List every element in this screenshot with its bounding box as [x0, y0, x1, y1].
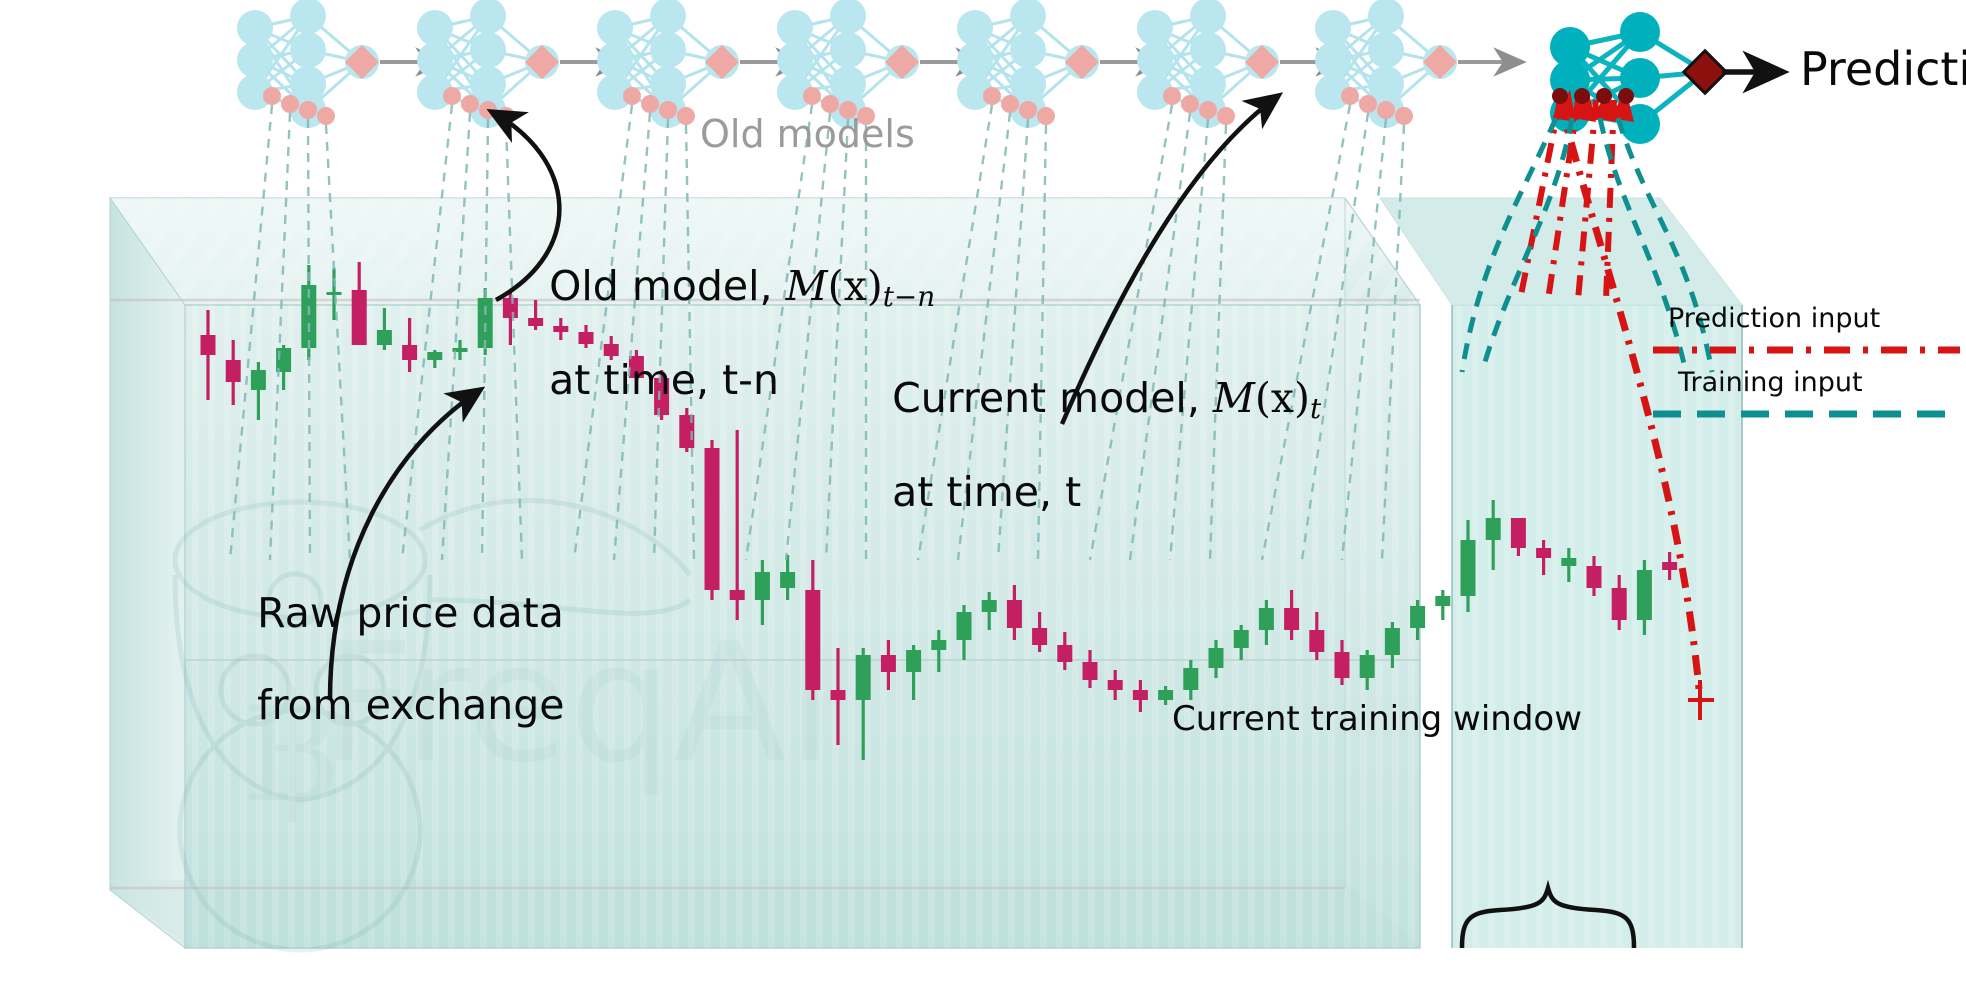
raw-price-callout-line2: from exchange — [257, 681, 564, 729]
network-node — [470, 0, 506, 34]
candle-body — [881, 655, 896, 672]
candle-body — [1158, 690, 1173, 700]
training-input-node — [263, 87, 281, 105]
network-node — [1368, 32, 1404, 68]
candle-body — [1057, 645, 1072, 662]
old-model-network — [237, 0, 444, 128]
old-models-label: Old models — [700, 113, 915, 156]
network-node — [1190, 32, 1226, 68]
candle-body — [957, 612, 972, 640]
network-node — [650, 32, 686, 68]
network-node — [1137, 10, 1173, 46]
candle-body — [805, 590, 820, 690]
training-input-node — [299, 101, 317, 119]
training-input-node — [1181, 95, 1199, 113]
candle-body — [1662, 562, 1677, 570]
candle-body — [377, 330, 392, 345]
candle-body — [251, 370, 266, 390]
training-input-node — [1037, 107, 1055, 125]
network-node — [597, 10, 633, 46]
candle-body — [755, 572, 770, 600]
prediction-label: Prediction — [1800, 44, 1966, 96]
candle-body — [856, 655, 871, 700]
training-input-node — [1001, 95, 1019, 113]
raw-price-callout-line1: Raw price data — [257, 589, 564, 637]
network-node — [470, 32, 506, 68]
training-input-node — [641, 95, 659, 113]
network-node — [417, 42, 453, 78]
candle-body — [705, 448, 720, 590]
old-model-network — [597, 0, 804, 128]
candle-body — [1587, 566, 1602, 588]
raw-price-callout: Raw price data from exchange — [205, 545, 565, 775]
training-input-node — [317, 107, 335, 125]
network-node — [1315, 42, 1351, 78]
training-input-node — [659, 101, 677, 119]
candle-body — [1612, 588, 1627, 620]
network-node — [957, 10, 993, 46]
candle-body — [1183, 668, 1198, 690]
candle-body — [1234, 630, 1249, 648]
training-input-node — [677, 107, 695, 125]
legend-label-prediction-input: Prediction input — [1668, 304, 1880, 334]
candle-body — [1561, 558, 1576, 566]
network-node — [417, 10, 453, 46]
network-node — [1315, 10, 1351, 46]
candle-body — [402, 345, 417, 360]
training-input-node — [821, 95, 839, 113]
training-input-node — [1395, 107, 1413, 125]
current-model-network — [1550, 12, 1782, 144]
training-input-node — [1019, 101, 1037, 119]
network-node — [957, 42, 993, 78]
candle-body — [1108, 680, 1123, 690]
candle-body — [1360, 655, 1375, 678]
training-input-node — [803, 87, 821, 105]
candle-body — [327, 292, 342, 295]
network-node — [1368, 0, 1404, 34]
old-model-network — [1137, 0, 1344, 128]
candle-body — [831, 690, 846, 700]
current-model-callout-line1: Current model, M(x)t — [892, 374, 1321, 422]
candle-body — [1536, 548, 1551, 558]
candle-body — [730, 590, 745, 600]
training-input-node — [461, 95, 479, 113]
network-node — [237, 10, 273, 46]
current-model-callout: Current model, M(x)t at time, t — [840, 330, 1321, 562]
old-model-network — [777, 0, 984, 128]
candle-body — [1133, 690, 1148, 700]
training-input-node — [1341, 87, 1359, 105]
candle-body — [226, 360, 241, 382]
network-node — [1137, 42, 1173, 78]
training-input-node — [1217, 107, 1235, 125]
network-node — [650, 0, 686, 34]
old-model-callout-line2: at time, t-n — [549, 356, 779, 404]
network-node — [597, 42, 633, 78]
training-input-node — [983, 87, 1001, 105]
training-input-node — [479, 101, 497, 119]
current-model-callout-line2: at time, t — [892, 468, 1081, 516]
candle-body — [352, 290, 367, 345]
candle-body — [1435, 596, 1450, 606]
candle-body — [906, 650, 921, 672]
candle-body — [1209, 648, 1224, 668]
candle-body — [1335, 652, 1350, 678]
network-node — [777, 10, 813, 46]
network-node — [290, 0, 326, 34]
network-node — [830, 32, 866, 68]
network-node — [777, 42, 813, 78]
candle-body — [982, 600, 997, 612]
training-input-node — [1163, 87, 1181, 105]
candle-body — [1032, 628, 1047, 645]
candle-body — [1083, 662, 1098, 680]
network-node — [830, 0, 866, 34]
network-node — [1190, 0, 1226, 34]
network-node — [237, 42, 273, 78]
candle-body — [1007, 600, 1022, 628]
candle-body — [780, 572, 795, 588]
training-input-node — [1377, 101, 1395, 119]
network-node — [1010, 32, 1046, 68]
training-input-node — [281, 95, 299, 113]
old-model-callout-line1: Old model, M(x)t−n — [549, 262, 935, 310]
candle-body — [427, 352, 442, 360]
candle-body — [931, 640, 946, 650]
network-node — [1010, 0, 1046, 34]
candle-body — [1410, 606, 1425, 628]
candle-body — [1461, 540, 1476, 596]
candle-body — [201, 335, 216, 355]
current-training-window-label: Current training window — [1172, 700, 1582, 738]
candle-body — [1284, 608, 1299, 630]
legend-label-training-input: Training input — [1678, 368, 1863, 398]
candle-body — [1637, 570, 1652, 620]
old-model-networks — [237, 0, 1522, 128]
candle-body — [1511, 518, 1526, 548]
old-model-network — [1315, 0, 1522, 128]
training-input-node — [443, 87, 461, 105]
candle-body — [1385, 628, 1400, 655]
candle-body — [1309, 630, 1324, 652]
network-node — [290, 32, 326, 68]
old-model-network — [417, 0, 624, 128]
candle-body — [1259, 608, 1274, 630]
training-input-node — [623, 87, 641, 105]
training-input-node — [1359, 95, 1377, 113]
candle-body — [1486, 518, 1501, 540]
figure-root: FreqAI ฿ — [0, 0, 1966, 981]
training-input-node — [1199, 101, 1217, 119]
old-model-network — [957, 0, 1164, 128]
